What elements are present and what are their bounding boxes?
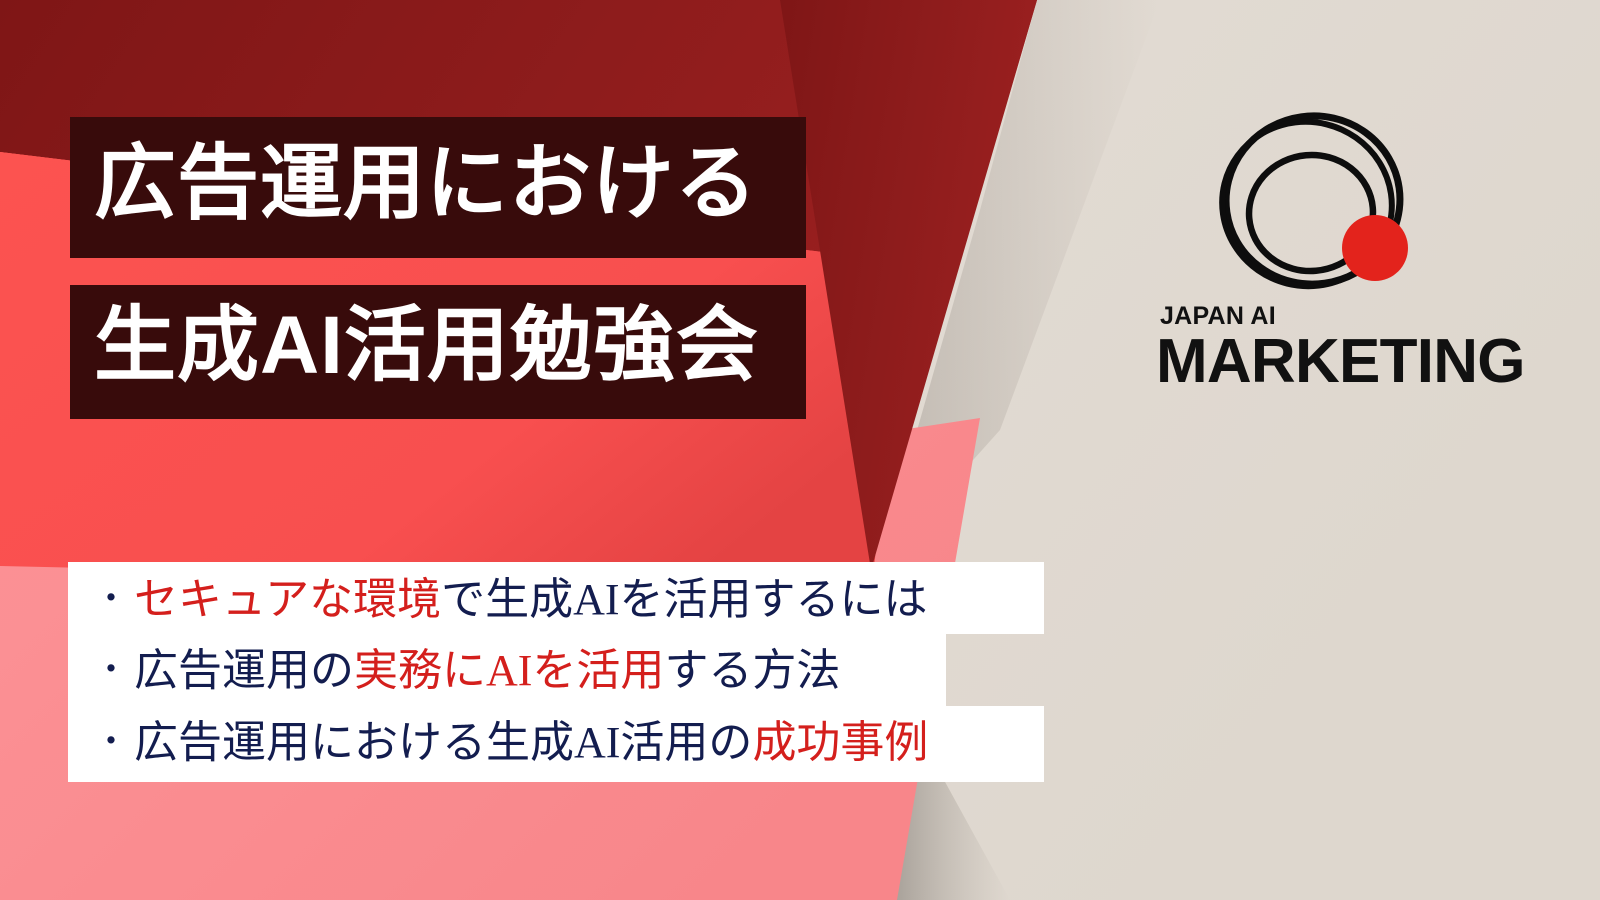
bullet-1-highlight: セキュアな環境 bbox=[134, 575, 441, 624]
title-line-2: 生成AI活用勉強会 bbox=[70, 285, 806, 419]
logo-wordmark: JAPAN AI MARKETING bbox=[1152, 304, 1482, 394]
brand-logo: JAPAN AI MARKETING bbox=[1152, 108, 1482, 398]
bullet-1-post: で生成AIを活用するには bbox=[441, 575, 927, 624]
bullet-item-1: ・セキュアな環境で生成AIを活用するには bbox=[68, 562, 1044, 634]
bullet-2-post: する方法 bbox=[664, 646, 840, 695]
slide-canvas: 広告運用における 生成AI活用勉強会 ・セキュアな環境で生成AIを活用するには … bbox=[0, 0, 1600, 900]
bullet-2-pre: 広告運用の bbox=[134, 646, 354, 695]
bullet-marker-icon: ・ bbox=[94, 581, 128, 618]
title-block: 広告運用における 生成AI活用勉強会 bbox=[70, 117, 806, 419]
bullet-3-pre: 広告運用における生成AI活用の bbox=[134, 718, 752, 767]
bullet-marker-icon: ・ bbox=[94, 724, 128, 761]
logo-subtitle: JAPAN AI bbox=[1152, 304, 1482, 329]
bullet-3-highlight: 成功事例 bbox=[752, 718, 928, 767]
bullet-list: ・セキュアな環境で生成AIを活用するには ・広告運用の実務にAIを活用する方法 … bbox=[68, 562, 1044, 782]
logo-title: MARKETING bbox=[1152, 329, 1482, 394]
enso-circle-icon bbox=[1210, 108, 1420, 304]
bullet-item-3: ・広告運用における生成AI活用の成功事例 bbox=[68, 706, 1044, 782]
bullet-marker-icon: ・ bbox=[94, 652, 128, 689]
red-dot-icon bbox=[1342, 215, 1408, 281]
bullet-item-2: ・広告運用の実務にAIを活用する方法 bbox=[68, 634, 946, 706]
title-line-1: 広告運用における bbox=[70, 117, 806, 258]
bullet-2-highlight: 実務にAIを活用 bbox=[354, 646, 664, 695]
